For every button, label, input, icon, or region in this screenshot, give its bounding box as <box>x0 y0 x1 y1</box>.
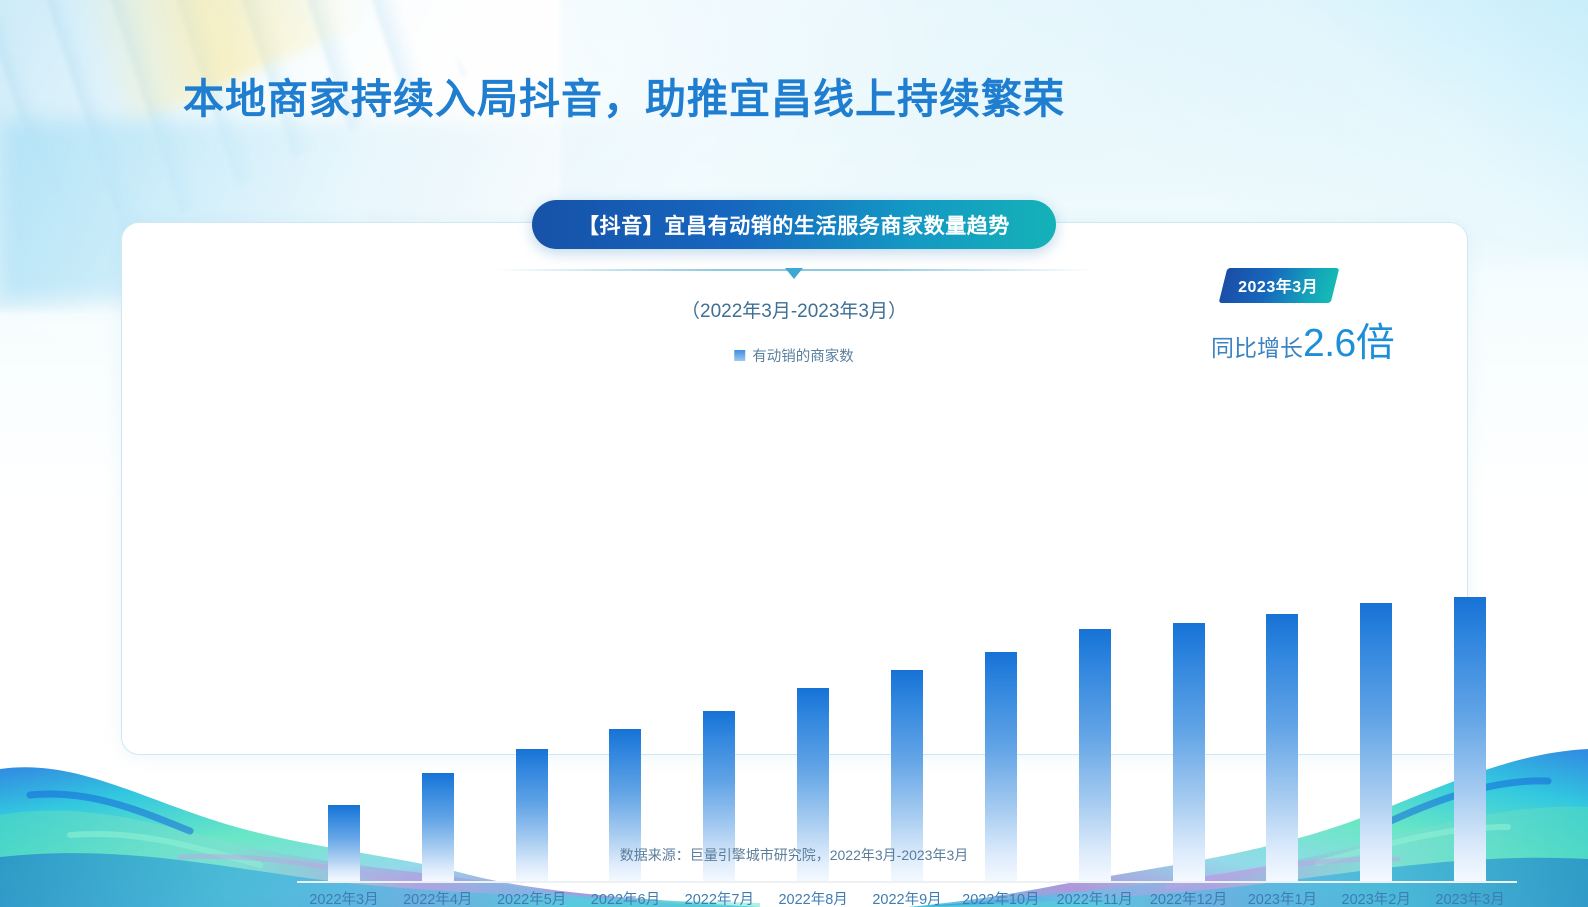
background-topright-glow <box>1108 0 1588 260</box>
bar <box>1079 629 1111 881</box>
bar <box>1173 623 1205 881</box>
chart-plot-area <box>297 588 1517 883</box>
bar <box>1360 603 1392 881</box>
bar <box>1454 597 1486 881</box>
bar <box>516 749 548 881</box>
bar <box>422 773 454 881</box>
x-axis-tick-label: 2023年3月 <box>1410 888 1530 907</box>
bar <box>328 805 360 881</box>
legend-swatch-icon <box>734 350 745 361</box>
growth-callout: 2023年3月 同比增长 2.6倍 <box>1223 268 1394 368</box>
chart-legend: 有动销的商家数 <box>734 345 854 366</box>
chart-x-axis: 2022年3月2022年4月2022年5月2022年6月2022年7月2022年… <box>297 888 1517 907</box>
legend-label: 有动销的商家数 <box>752 345 854 366</box>
chart-banner-label: 【抖音】宜昌有动销的生活服务商家数量趋势 <box>578 210 1010 240</box>
callout-growth-value: 2.6倍 <box>1303 312 1394 368</box>
data-source-footer: 数据来源：巨量引擎城市研究院，2022年3月-2023年3月 <box>620 845 969 865</box>
bar <box>1266 614 1298 881</box>
callout-period-badge: 2023年3月 <box>1219 268 1340 303</box>
callout-growth-prefix: 同比增长 <box>1211 329 1303 363</box>
chevron-down-icon <box>785 268 803 279</box>
callout-growth: 同比增长 2.6倍 <box>1211 312 1394 368</box>
chart-banner-title: 【抖音】宜昌有动销的生活服务商家数量趋势 <box>532 200 1056 249</box>
bar-series <box>297 588 1517 881</box>
bar <box>985 652 1017 881</box>
chart-subtitle: （2022年3月-2023年3月） <box>681 296 907 323</box>
chart-baseline <box>297 881 1517 883</box>
callout-period-label: 2023年3月 <box>1238 273 1318 297</box>
page-title: 本地商家持续入局抖音，助推宜昌线上持续繁荣 <box>183 65 1065 125</box>
